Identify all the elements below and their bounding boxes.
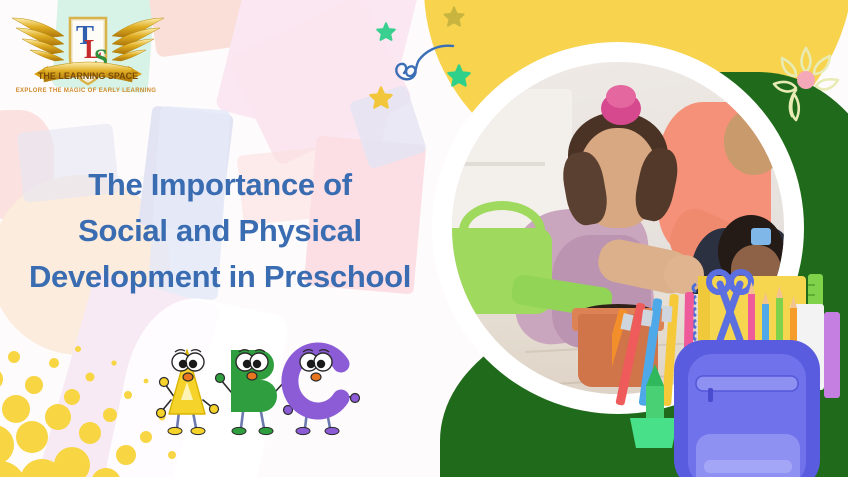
preschool-blog-banner: T L S THE LEARNING SPACE EXPLORE THE MAG… xyxy=(0,0,848,477)
abc-letter-b xyxy=(216,350,292,435)
blue-squiggle-icon xyxy=(393,38,455,90)
logo-tagline: EXPLORE THE MAGIC OF EARLY LEARNING xyxy=(10,88,162,94)
headline-line-2: Social and Physical xyxy=(10,208,430,254)
headline-line-3: Development in Preschool xyxy=(10,254,430,300)
star-yellow-icon xyxy=(369,86,393,110)
backpack-and-school-supplies xyxy=(612,268,848,477)
page-title: The Importance of Social and Physical De… xyxy=(10,162,430,300)
abc-cartoon-characters xyxy=(155,336,365,436)
star-mint-icon xyxy=(376,22,396,42)
star-olive-icon xyxy=(443,6,465,28)
abc-letter-a xyxy=(157,350,219,435)
abc-letter-c xyxy=(284,350,360,435)
headline-line-1: The Importance of xyxy=(10,162,430,208)
logo-banner-text: THE LEARNING SPACE xyxy=(38,71,138,81)
